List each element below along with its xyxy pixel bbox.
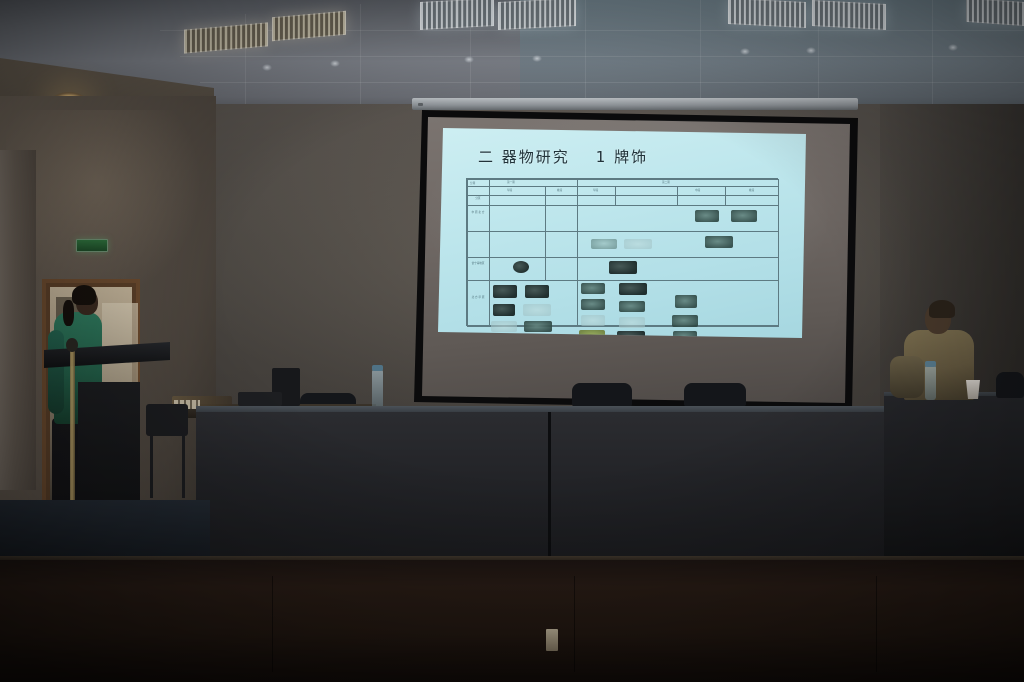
artifact-image: [619, 301, 645, 312]
conference-table-front-panel: [196, 412, 896, 574]
artifact-image: [524, 321, 552, 332]
artifact-image: [591, 239, 617, 249]
table-rule: [467, 257, 779, 258]
attendee-hair: [929, 300, 955, 318]
artifact-image: [624, 239, 652, 249]
chair-back-center-right: [684, 383, 746, 407]
table-rule: [467, 186, 779, 187]
table-row-label: 分区: [467, 197, 489, 200]
ceiling-downlight: [464, 56, 474, 63]
table-rule: [778, 179, 779, 326]
side-chair: [146, 404, 188, 498]
ceiling-grid-line: [180, 56, 1024, 57]
artifact-image: [523, 304, 551, 316]
artifact-image: [705, 236, 733, 248]
ceiling-grid-line: [932, 0, 933, 106]
artifact-image: [513, 261, 529, 273]
artifact-image: [525, 285, 549, 298]
artifact-image: [491, 321, 517, 332]
ceiling-light-panel: [728, 0, 806, 28]
water-bottle-right-cap: [925, 361, 936, 367]
artifact-image: [581, 299, 605, 310]
panel-seam: [272, 576, 273, 672]
panel-seam: [574, 576, 575, 672]
table-row-label: 北 方 草 原: [467, 296, 489, 299]
table-group-header: 第二期: [662, 180, 670, 184]
side-chair-back: [146, 404, 188, 436]
table-rule: [615, 186, 616, 205]
table-rule: [489, 179, 490, 326]
photo-scene: 二 器物研究1 牌饰 分: [0, 0, 1024, 682]
artifact-image: [672, 315, 698, 327]
right-table-front-panel: [884, 396, 1024, 574]
side-chair-leg: [182, 436, 185, 498]
chair-back-right: [996, 372, 1024, 398]
table-rule: [577, 179, 578, 326]
ceiling-downlight: [806, 47, 816, 54]
stage-front-panel: [0, 560, 1024, 682]
ceiling-light-panel: [812, 0, 886, 30]
table-sub-header: 晚段: [749, 188, 754, 192]
ceiling-downlight: [532, 55, 542, 62]
ceiling-grid-line: [360, 4, 361, 112]
table-sub-header: 早段: [593, 188, 598, 192]
slide-title-sub: 1 牌饰: [596, 148, 648, 166]
table-corner-label: 分期: [470, 181, 475, 185]
ceiling-grid-line: [200, 82, 1024, 83]
water-bottle-left-cap: [372, 365, 383, 371]
ceiling-downlight: [330, 60, 340, 67]
ceiling-downlight: [948, 44, 958, 51]
attendee-arm: [890, 356, 924, 398]
table-sub-header: 早段: [507, 188, 512, 192]
water-bottle-left: [372, 370, 383, 408]
artifact-image: [581, 283, 605, 294]
table-panel-seam: [548, 412, 551, 574]
screen-casing-label: [418, 103, 423, 106]
ceiling-light-panel: [498, 0, 576, 30]
artifact-image: [675, 295, 697, 308]
exit-sign: [76, 239, 108, 252]
ceiling-light-panel: [420, 0, 494, 30]
laptop: [238, 392, 282, 406]
paper-cup: [966, 380, 980, 399]
table-rule: [467, 280, 779, 281]
artifact-image: [609, 261, 637, 274]
presenter-hair: [72, 285, 96, 305]
ceiling-grid-line: [700, 0, 701, 112]
artifact-image: [493, 304, 515, 316]
table-row-label: 中 原 北 方: [467, 211, 489, 214]
side-chair-leg: [150, 436, 153, 498]
microphone-head: [66, 338, 78, 352]
slide-title: 二 器物研究1 牌饰: [478, 146, 648, 167]
projected-slide: 二 器物研究1 牌饰 分: [438, 128, 806, 338]
artifact-image: [619, 283, 647, 295]
ceiling-grid-line: [585, 0, 586, 112]
ceiling-downlight: [262, 64, 272, 71]
artifact-image: [581, 315, 605, 326]
curtain: [0, 150, 36, 490]
slide-title-main: 二 器物研究: [478, 148, 570, 166]
projection-screen-casing: [412, 98, 858, 110]
artifact-image: [695, 210, 719, 222]
table-rule: [545, 186, 546, 281]
artifact-image: [731, 210, 757, 222]
light-switch-plate[interactable]: [546, 629, 558, 651]
table-rule: [725, 186, 726, 205]
artifact-image: [619, 317, 645, 328]
table-row-label: 甘宁青地区: [467, 262, 489, 265]
artifact-image: [493, 285, 517, 298]
table-rule: [467, 195, 779, 196]
table-sub-header: 中段: [695, 188, 700, 192]
chair-back-center-left: [572, 383, 632, 407]
presenter-ponytail: [63, 300, 74, 326]
table-rule: [467, 205, 779, 206]
slide-data-table: 分期 第一期 第二期 早段 晚段 早段 中段 晚段 分区 中 原 北 方 甘宁青…: [466, 178, 778, 326]
ceiling-light-panel: [966, 0, 1024, 26]
panel-seam: [876, 576, 877, 672]
table-sub-header: 晚段: [557, 188, 562, 192]
table-group-header: 第一期: [507, 180, 515, 184]
table-rule: [467, 179, 468, 326]
presenter-arm: [48, 330, 64, 414]
table-rule: [677, 186, 678, 205]
water-bottle-right: [925, 366, 936, 400]
ceiling-downlight: [740, 48, 750, 55]
table-rule: [467, 231, 779, 232]
